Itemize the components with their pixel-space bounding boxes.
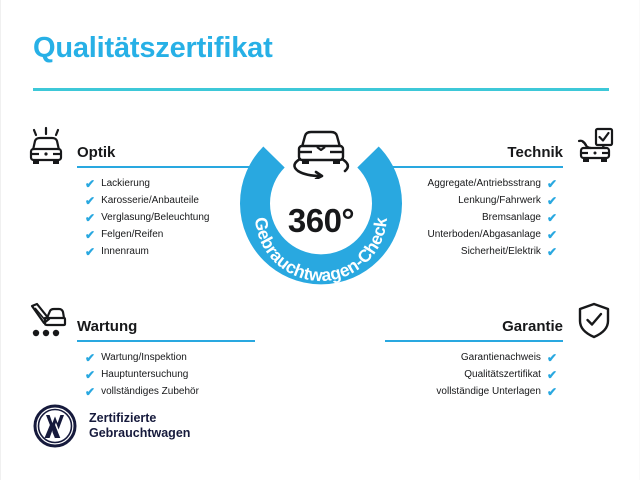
- list-item-label: Qualitätszertifikat: [464, 368, 541, 381]
- check-icon: ✔: [85, 386, 95, 398]
- list-item-label: Unterboden/Abgasanlage: [428, 228, 541, 241]
- list-item: ✔Sicherheit/Elektrik: [385, 243, 615, 260]
- section-technik: Technik ✔Aggregate/Antriebsstrang ✔Lenku…: [385, 126, 615, 260]
- page-title: Qualitätszertifikat: [33, 32, 273, 65]
- footer-brand-text: Zertifizierte Gebrauchtwagen: [89, 411, 190, 441]
- section-technik-title-wrap: Technik: [385, 144, 573, 168]
- check-icon: ✔: [547, 386, 557, 398]
- section-wartung-rule: [77, 340, 255, 342]
- section-optik-title: Optik: [77, 144, 255, 162]
- check-icon: ✔: [547, 246, 557, 258]
- section-optik-header: Optik: [25, 126, 255, 168]
- car-wash-shine-icon: [25, 126, 67, 168]
- check-icon: ✔: [85, 178, 95, 190]
- list-item-label: Sicherheit/Elektrik: [461, 245, 541, 258]
- list-item: ✔Wartung/Inspektion: [25, 349, 255, 366]
- list-item-label: Lenkung/Fahrwerk: [458, 194, 541, 207]
- list-item-label: Lackierung: [101, 177, 150, 190]
- section-optik: Optik ✔Lackierung ✔Karosserie/Anbauteile…: [25, 126, 255, 260]
- car-rotation-360-icon: [282, 121, 360, 179]
- check-icon: ✔: [547, 212, 557, 224]
- check-icon: ✔: [85, 246, 95, 258]
- list-item-label: vollständiges Zubehör: [101, 385, 199, 398]
- section-garantie-title: Garantie: [385, 318, 563, 336]
- list-item: ✔Qualitätszertifikat: [385, 366, 615, 383]
- list-item-label: Wartung/Inspektion: [101, 351, 187, 364]
- list-item-label: Karosserie/Anbauteile: [101, 194, 199, 207]
- list-item-label: Hauptuntersuchung: [101, 368, 188, 381]
- badge-360-gebrauchtwagen-check: Gebrauchtwagen-Check 360°: [233, 127, 409, 303]
- section-optik-rule: [77, 166, 255, 168]
- section-garantie-header: Garantie: [385, 300, 615, 342]
- check-icon: ✔: [547, 229, 557, 241]
- list-item: ✔Karosserie/Anbauteile: [25, 192, 255, 209]
- check-icon: ✔: [547, 178, 557, 190]
- section-garantie: Garantie ✔Garantienachweis ✔Qualitätszer…: [385, 300, 615, 400]
- section-garantie-list: ✔Garantienachweis ✔Qualitätszertifikat ✔…: [385, 349, 615, 400]
- check-icon: ✔: [85, 229, 95, 241]
- section-technik-title: Technik: [385, 144, 563, 162]
- section-optik-title-wrap: Optik: [67, 144, 255, 168]
- right-column: Technik ✔Aggregate/Antriebsstrang ✔Lenku…: [385, 126, 615, 400]
- check-icon: ✔: [85, 212, 95, 224]
- car-checkbox-icon: [573, 126, 615, 168]
- footer-brand: Zertifizierte Gebrauchtwagen: [33, 404, 190, 448]
- list-item: ✔Unterboden/Abgasanlage: [385, 226, 615, 243]
- list-item-label: Garantienachweis: [461, 351, 541, 364]
- shield-check-icon: [573, 300, 615, 342]
- list-item-label: Bremsanlage: [482, 211, 541, 224]
- footer-brand-line2: Gebrauchtwagen: [89, 426, 190, 441]
- footer-brand-line1: Zertifizierte: [89, 411, 190, 426]
- list-item: ✔Felgen/Reifen: [25, 226, 255, 243]
- list-item: ✔Garantienachweis: [385, 349, 615, 366]
- check-icon: ✔: [85, 195, 95, 207]
- check-icon: ✔: [547, 369, 557, 381]
- section-optik-list: ✔Lackierung ✔Karosserie/Anbauteile ✔Verg…: [25, 175, 255, 260]
- list-item: ✔Aggregate/Antriebsstrang: [385, 175, 615, 192]
- section-wartung: Wartung ✔Wartung/Inspektion ✔Hauptunters…: [25, 300, 255, 400]
- check-icon: ✔: [85, 352, 95, 364]
- list-item-label: vollständige Unterlagen: [436, 385, 541, 398]
- list-item: ✔Verglasung/Beleuchtung: [25, 209, 255, 226]
- section-garantie-rule: [385, 340, 563, 342]
- left-column: Optik ✔Lackierung ✔Karosserie/Anbauteile…: [25, 126, 255, 400]
- list-item: ✔vollständige Unterlagen: [385, 383, 615, 400]
- list-item: ✔vollständiges Zubehör: [25, 383, 255, 400]
- section-technik-rule: [385, 166, 563, 168]
- list-item-label: Verglasung/Beleuchtung: [101, 211, 209, 224]
- list-item-label: Innenraum: [101, 245, 149, 258]
- check-icon: ✔: [547, 352, 557, 364]
- certificate-page: Qualitätszertifikat: [0, 0, 640, 480]
- list-item-label: Felgen/Reifen: [101, 228, 163, 241]
- section-wartung-title-wrap: Wartung: [67, 318, 255, 342]
- volkswagen-logo: [33, 404, 77, 448]
- list-item: ✔Innenraum: [25, 243, 255, 260]
- list-item-label: Aggregate/Antriebsstrang: [428, 177, 541, 190]
- list-item: ✔Bremsanlage: [385, 209, 615, 226]
- section-wartung-title: Wartung: [77, 318, 255, 336]
- check-icon: ✔: [85, 369, 95, 381]
- section-wartung-list: ✔Wartung/Inspektion ✔Hauptuntersuchung ✔…: [25, 349, 255, 400]
- section-garantie-title-wrap: Garantie: [385, 318, 573, 342]
- list-item: ✔Lenkung/Fahrwerk: [385, 192, 615, 209]
- section-wartung-header: Wartung: [25, 300, 255, 342]
- title-divider: [33, 88, 609, 91]
- section-technik-header: Technik: [385, 126, 615, 168]
- check-icon: ✔: [547, 195, 557, 207]
- list-item: ✔Hauptuntersuchung: [25, 366, 255, 383]
- list-item: ✔Lackierung: [25, 175, 255, 192]
- section-technik-list: ✔Aggregate/Antriebsstrang ✔Lenkung/Fahrw…: [385, 175, 615, 260]
- wrench-car-service-icon: [25, 300, 67, 342]
